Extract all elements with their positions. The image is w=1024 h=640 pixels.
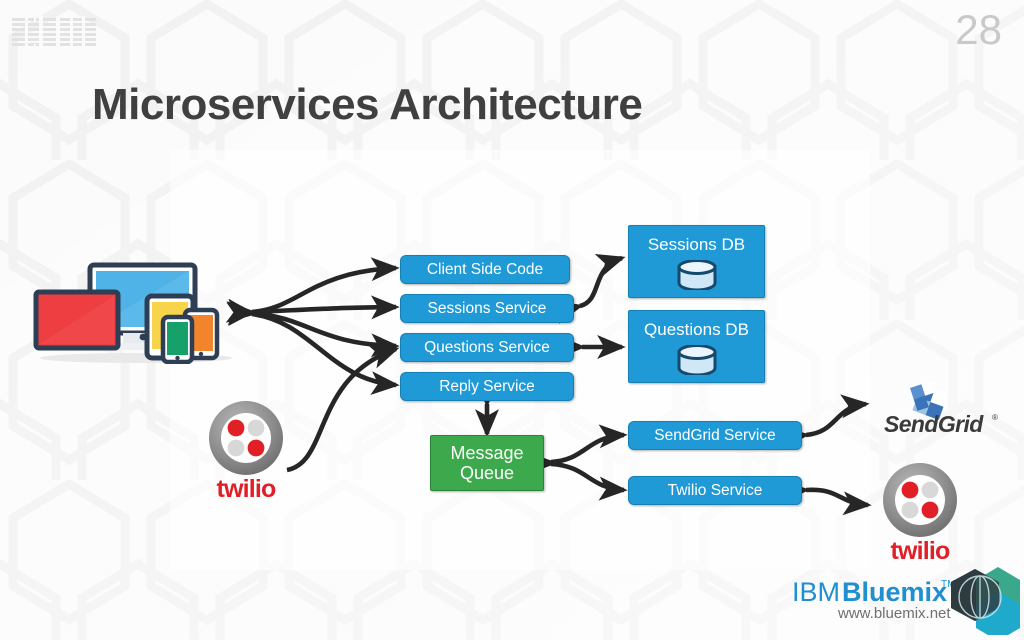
service-box-client-side-code[interactable]: Client Side Code (400, 255, 570, 284)
service-box-questions-service[interactable]: Questions Service (400, 333, 574, 362)
page-number: 28 (955, 6, 1002, 54)
bluemix-logo: IBM Bluemix TM www.bluemix.net (790, 565, 1020, 635)
message-queue-label-line2: Queue (460, 463, 514, 483)
service-box-sessions-service[interactable]: Sessions Service (400, 294, 574, 323)
database-cylinder-icon (676, 345, 718, 375)
sendgrid-wordmark: SendGrid (884, 411, 984, 437)
client-devices (28, 252, 243, 364)
bluemix-hexagon-icon (951, 567, 1020, 635)
service-label: Reply Service (439, 378, 535, 395)
bluemix-url: www.bluemix.net (837, 605, 951, 622)
service-label: Sessions Service (428, 300, 547, 317)
twilio-logo: twilio (198, 398, 294, 504)
database-label: Questions DB (644, 320, 749, 339)
service-label: Twilio Service (668, 482, 763, 499)
service-label: Client Side Code (427, 261, 543, 278)
bluemix-ibm-text: IBM (792, 577, 840, 607)
database-box-questions-db[interactable]: Questions DB (628, 310, 765, 383)
svg-text:®: ® (992, 413, 998, 422)
sendgrid-logo: SendGrid ® (884, 382, 1004, 438)
service-box-sendgrid-service[interactable]: SendGrid Service (628, 421, 802, 450)
device-laptop (36, 292, 118, 348)
svg-text:twilio: twilio (890, 537, 950, 565)
service-label: SendGrid Service (654, 427, 775, 444)
twilio-logo: twilio (872, 460, 968, 566)
svg-text:twilio: twilio (216, 475, 276, 503)
database-cylinder-icon (676, 260, 718, 290)
service-box-reply-service[interactable]: Reply Service (400, 372, 574, 401)
page-title: Microservices Architecture (92, 80, 642, 130)
database-box-sessions-db[interactable]: Sessions DB (628, 225, 765, 298)
slide-canvas: 28 Microservices Architecture (0, 0, 1024, 640)
database-label: Sessions DB (648, 235, 745, 254)
device-phone-green (163, 317, 192, 362)
ibm-logo (12, 16, 96, 50)
message-queue-label-line1: Message (450, 443, 523, 463)
message-queue-box[interactable]: Message Queue (430, 435, 544, 491)
service-box-twilio-service[interactable]: Twilio Service (628, 476, 802, 505)
bluemix-brand-text: Bluemix (842, 577, 947, 607)
service-label: Questions Service (424, 339, 550, 356)
